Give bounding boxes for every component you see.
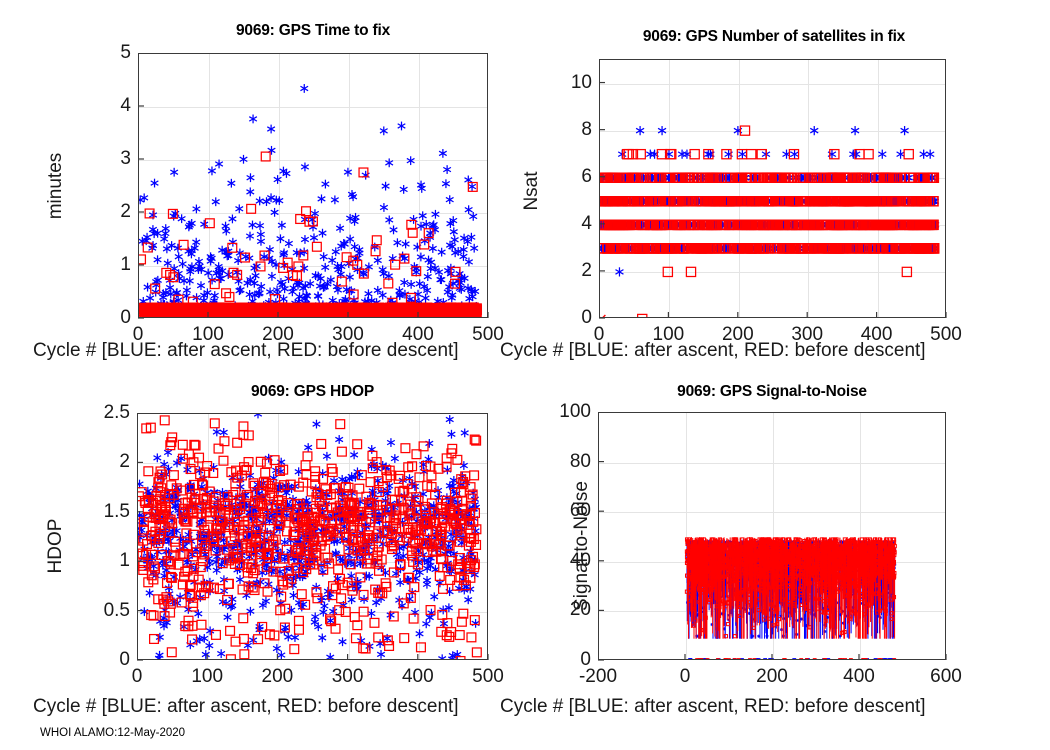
- xlabel-time-to-fix: Cycle # [BLUE: after ascent, RED: before…: [33, 340, 459, 362]
- ylabel-hdop: HDOP: [45, 496, 67, 596]
- y-tick-label: 40: [536, 550, 591, 572]
- y-tick-label: 2: [537, 260, 592, 282]
- y-tick-label: 10: [537, 72, 592, 94]
- xlabel-snr: Cycle # [BLUE: after ascent, RED: before…: [500, 696, 926, 718]
- y-tick-label: 3: [76, 148, 131, 170]
- panel-title-snr: 9069: GPS Signal-to-Noise: [598, 383, 946, 401]
- x-tick-label: 500: [472, 666, 504, 688]
- y-tick-label: 1.5: [75, 501, 130, 523]
- x-tick-label: 100: [653, 324, 685, 346]
- xlabel-hdop: Cycle # [BLUE: after ascent, RED: before…: [33, 696, 459, 718]
- y-tick-label: 6: [537, 166, 592, 188]
- x-tick-label: -200: [579, 666, 617, 688]
- y-tick-label: 2: [76, 201, 131, 223]
- x-tick-label: 400: [861, 324, 893, 346]
- scatter-layer-hdop: [138, 414, 488, 660]
- y-tick-label: 100: [536, 401, 591, 423]
- y-tick-label: 4: [537, 213, 592, 235]
- y-tick-label: 8: [537, 119, 592, 141]
- x-tick-label: 300: [332, 324, 364, 346]
- y-tick-label: 2.5: [75, 402, 130, 424]
- y-tick-label: 20: [536, 599, 591, 621]
- axes-hdop: [137, 413, 488, 660]
- panel-title-nsat: 9069: GPS Number of satellites in fix: [569, 28, 979, 46]
- x-tick-label: 300: [332, 666, 364, 688]
- gps-diagnostics-figure: 9069: GPS Time to fix minutes Cycle # [B…: [0, 0, 1050, 750]
- y-tick-label: 5: [76, 42, 131, 64]
- y-tick-label: 0: [76, 307, 131, 329]
- series-before-descent: [137, 416, 481, 660]
- x-tick-label: 400: [402, 666, 434, 688]
- x-tick-label: 200: [262, 324, 294, 346]
- x-tick-label: 0: [132, 666, 143, 688]
- x-tick-label: 500: [930, 324, 962, 346]
- x-tick-label: 600: [930, 666, 962, 688]
- x-tick-label: 500: [472, 324, 504, 346]
- x-tick-label: 400: [402, 324, 434, 346]
- y-tick-label: 0: [75, 649, 130, 671]
- x-tick-label: 200: [262, 666, 294, 688]
- y-tick-label: 2: [75, 451, 130, 473]
- x-tick-label: 0: [594, 324, 605, 346]
- axes-time-to-fix: [138, 53, 488, 318]
- y-tick-label: 0: [537, 307, 592, 329]
- x-tick-label: 300: [791, 324, 823, 346]
- x-tick-label: 100: [191, 666, 223, 688]
- x-tick-label: 200: [756, 666, 788, 688]
- y-tick-label: 1: [76, 254, 131, 276]
- ylabel-time-to-fix: minutes: [45, 126, 67, 246]
- scatter-layer-time-to-fix: [139, 54, 488, 318]
- y-tick-label: 80: [536, 451, 591, 473]
- axes-snr: [598, 412, 946, 660]
- y-tick-label: 0.5: [75, 600, 130, 622]
- scatter-layer-snr: [599, 413, 946, 660]
- nsat-zero-marker: [600, 60, 946, 318]
- x-tick-label: 0: [680, 666, 691, 688]
- x-tick-label: 400: [843, 666, 875, 688]
- x-tick-label: 100: [192, 324, 224, 346]
- y-tick-label: 60: [536, 500, 591, 522]
- panel-title-hdop: 9069: GPS HDOP: [137, 383, 488, 401]
- y-tick-label: 1: [75, 550, 130, 572]
- axes-nsat: [599, 59, 946, 318]
- footer-note: WHOI ALAMO:12-May-2020: [40, 727, 185, 739]
- series-after-ascent: [138, 84, 480, 318]
- x-tick-label: 0: [133, 324, 144, 346]
- y-tick-label: 4: [76, 95, 131, 117]
- x-tick-label: 200: [722, 324, 754, 346]
- panel-title-time-to-fix: 9069: GPS Time to fix: [138, 22, 488, 40]
